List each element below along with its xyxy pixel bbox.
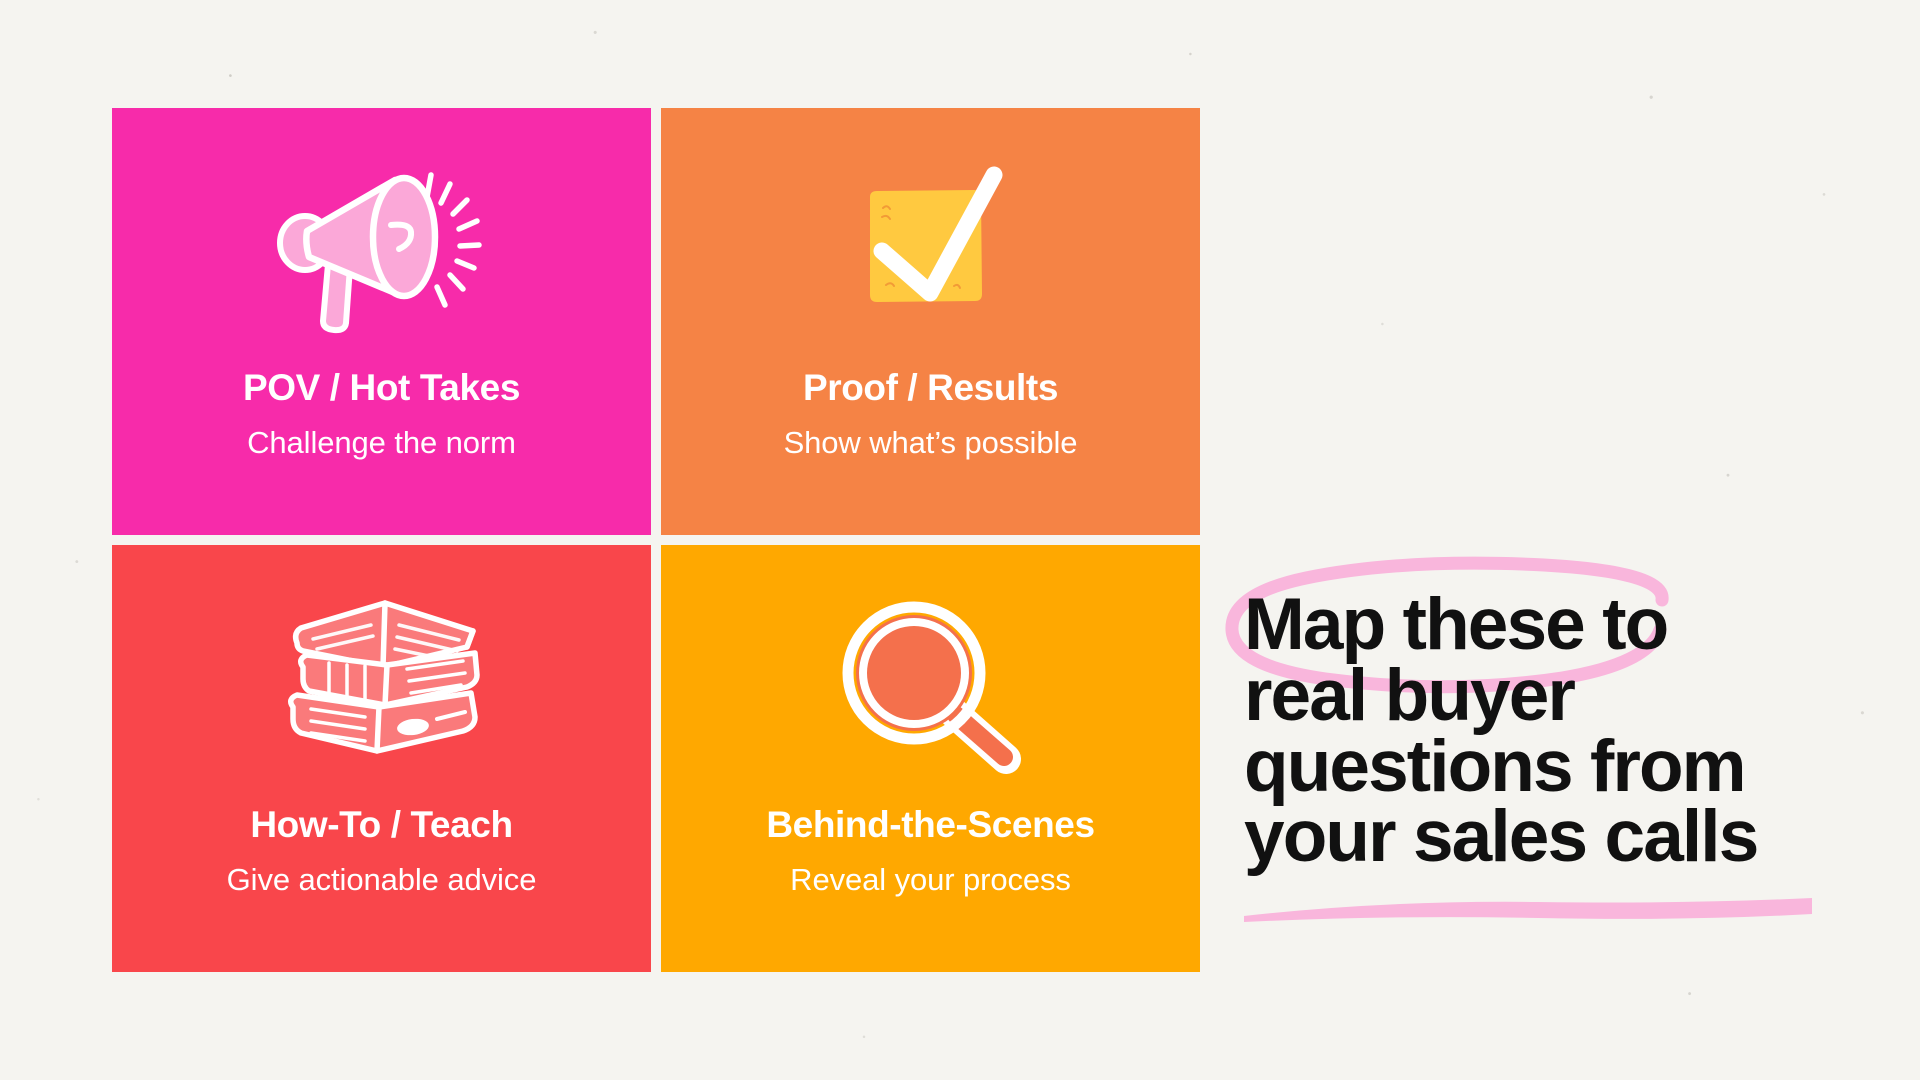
tile-title: POV / Hot Takes (243, 368, 520, 409)
headline-block: Map these to real buyer questions from y… (1244, 590, 1864, 873)
tile-subtitle: Give actionable advice (227, 862, 537, 898)
tile-behind-the-scenes[interactable]: Behind-the-Scenes Reveal your process (661, 545, 1200, 972)
hand-drawn-underline-annotation (1238, 889, 1818, 927)
tile-title: How-To / Teach (250, 805, 512, 846)
tile-title: Behind-the-Scenes (766, 805, 1094, 846)
tile-proof-results[interactable]: Proof / Results Show what’s possible (661, 108, 1200, 535)
page-headline: Map these to real buyer questions from y… (1244, 590, 1864, 873)
tile-subtitle: Show what’s possible (784, 425, 1078, 461)
tile-subtitle: Reveal your process (790, 862, 1071, 898)
stacked-books-icon (112, 579, 651, 791)
checkmark-box-icon (661, 142, 1200, 354)
tile-pov-hot-takes[interactable]: POV / Hot Takes Challenge the norm (112, 108, 651, 535)
content-pillar-grid: POV / Hot Takes Challenge the norm Proof… (112, 108, 1200, 972)
megaphone-icon (112, 142, 651, 354)
tile-subtitle: Challenge the norm (247, 425, 516, 461)
magnifying-glass-icon (661, 579, 1200, 791)
tile-title: Proof / Results (803, 368, 1058, 409)
tile-how-to-teach[interactable]: How-To / Teach Give actionable advice (112, 545, 651, 972)
